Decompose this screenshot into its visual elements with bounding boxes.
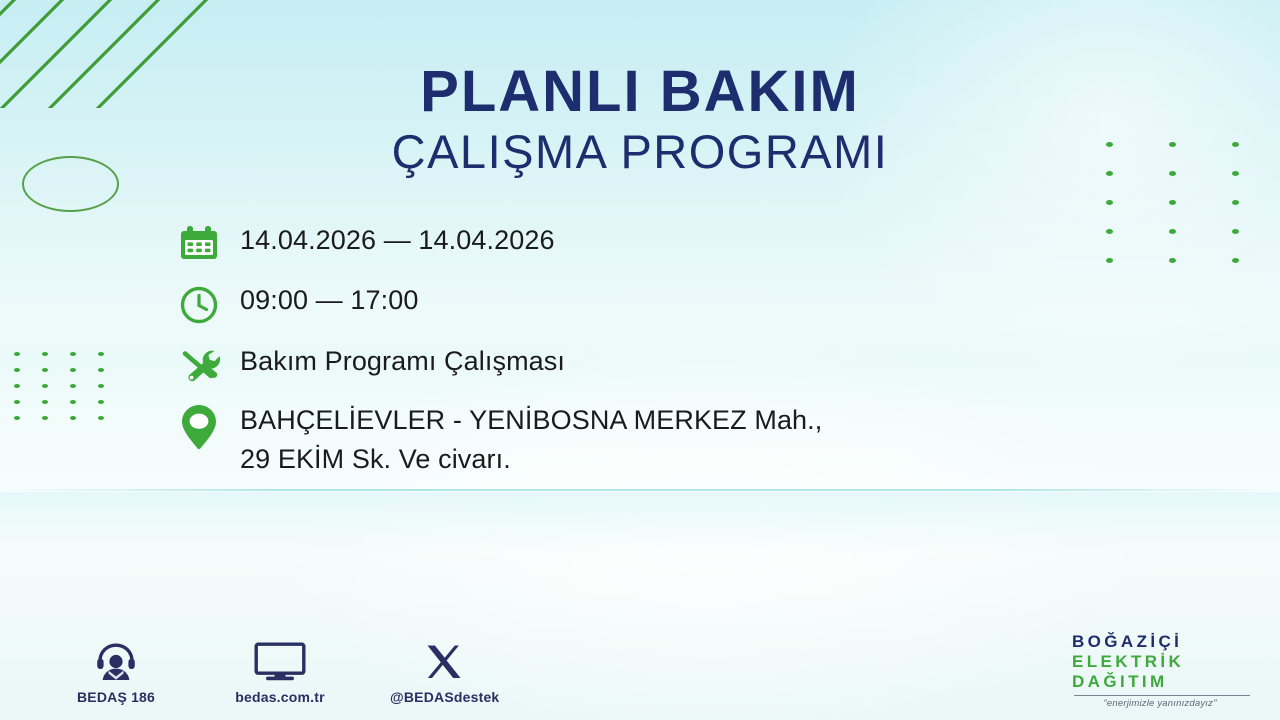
location-pin-icon: [178, 401, 240, 453]
brand-tagline: "enerjimizle yanınızdayız": [1072, 698, 1248, 709]
clock-icon: [178, 282, 240, 326]
contact-social-label: @BEDASdestek: [390, 689, 498, 705]
horizontal-divider-fade: [0, 492, 1280, 552]
contact-social[interactable]: @BEDASdestek: [390, 638, 498, 705]
info-row-address-line2: 29 EKİM Sk. Ve civarı.: [240, 440, 822, 479]
info-row-worktype: Bakım Programı Çalışması: [178, 343, 1178, 387]
brand-logo: BOĞAZİÇİ ELEKTRİK DAĞITIM "enerjimizle y…: [1072, 632, 1258, 709]
contact-website-label: bedas.com.tr: [226, 689, 334, 705]
info-row-worktype-label: Bakım Programı Çalışması: [240, 343, 565, 380]
brand-line-bogazici: BOĞAZİÇİ: [1072, 632, 1258, 652]
info-row-time: 09:00 — 17:00: [178, 282, 1178, 326]
monitor-icon: [226, 638, 334, 682]
brand-line-elektrik: ELEKTRİK: [1072, 652, 1258, 672]
tools-icon: [178, 343, 240, 387]
brand-line-dagitim: DAĞITIM: [1072, 672, 1258, 692]
title-primary: PLANLI BAKIM: [0, 62, 1280, 121]
contact-website[interactable]: bedas.com.tr: [226, 638, 334, 705]
brand-divider: [1074, 695, 1250, 696]
x-twitter-icon: [390, 638, 498, 682]
info-row-date: 14.04.2026 — 14.04.2026: [178, 222, 1178, 266]
footer: BEDAŞ 186 bedas.com.tr: [0, 630, 1280, 720]
title-secondary: ÇALIŞMA PROGRAMI: [0, 125, 1280, 179]
maintenance-info-list: 14.04.2026 — 14.04.2026 09:00 — 17:00: [178, 222, 1178, 493]
contact-phone-label: BEDAŞ 186: [62, 689, 170, 705]
info-row-address: BAHÇELİEVLER - YENİBOSNA MERKEZ Mah., 29…: [178, 401, 1178, 479]
contact-phone[interactable]: BEDAŞ 186: [62, 638, 170, 705]
headset-support-icon: [62, 638, 170, 682]
poster-canvas: PLANLI BAKIM ÇALIŞMA PROGRAMI: [0, 0, 1280, 720]
info-row-time-label: 09:00 — 17:00: [240, 282, 418, 319]
info-row-date-label: 14.04.2026 — 14.04.2026: [240, 222, 555, 259]
footer-contacts: BEDAŞ 186 bedas.com.tr: [62, 638, 498, 705]
info-row-address-line1: BAHÇELİEVLER - YENİBOSNA MERKEZ Mah.,: [240, 401, 822, 440]
page-title: PLANLI BAKIM ÇALIŞMA PROGRAMI: [0, 62, 1280, 179]
calendar-icon: [178, 222, 240, 266]
